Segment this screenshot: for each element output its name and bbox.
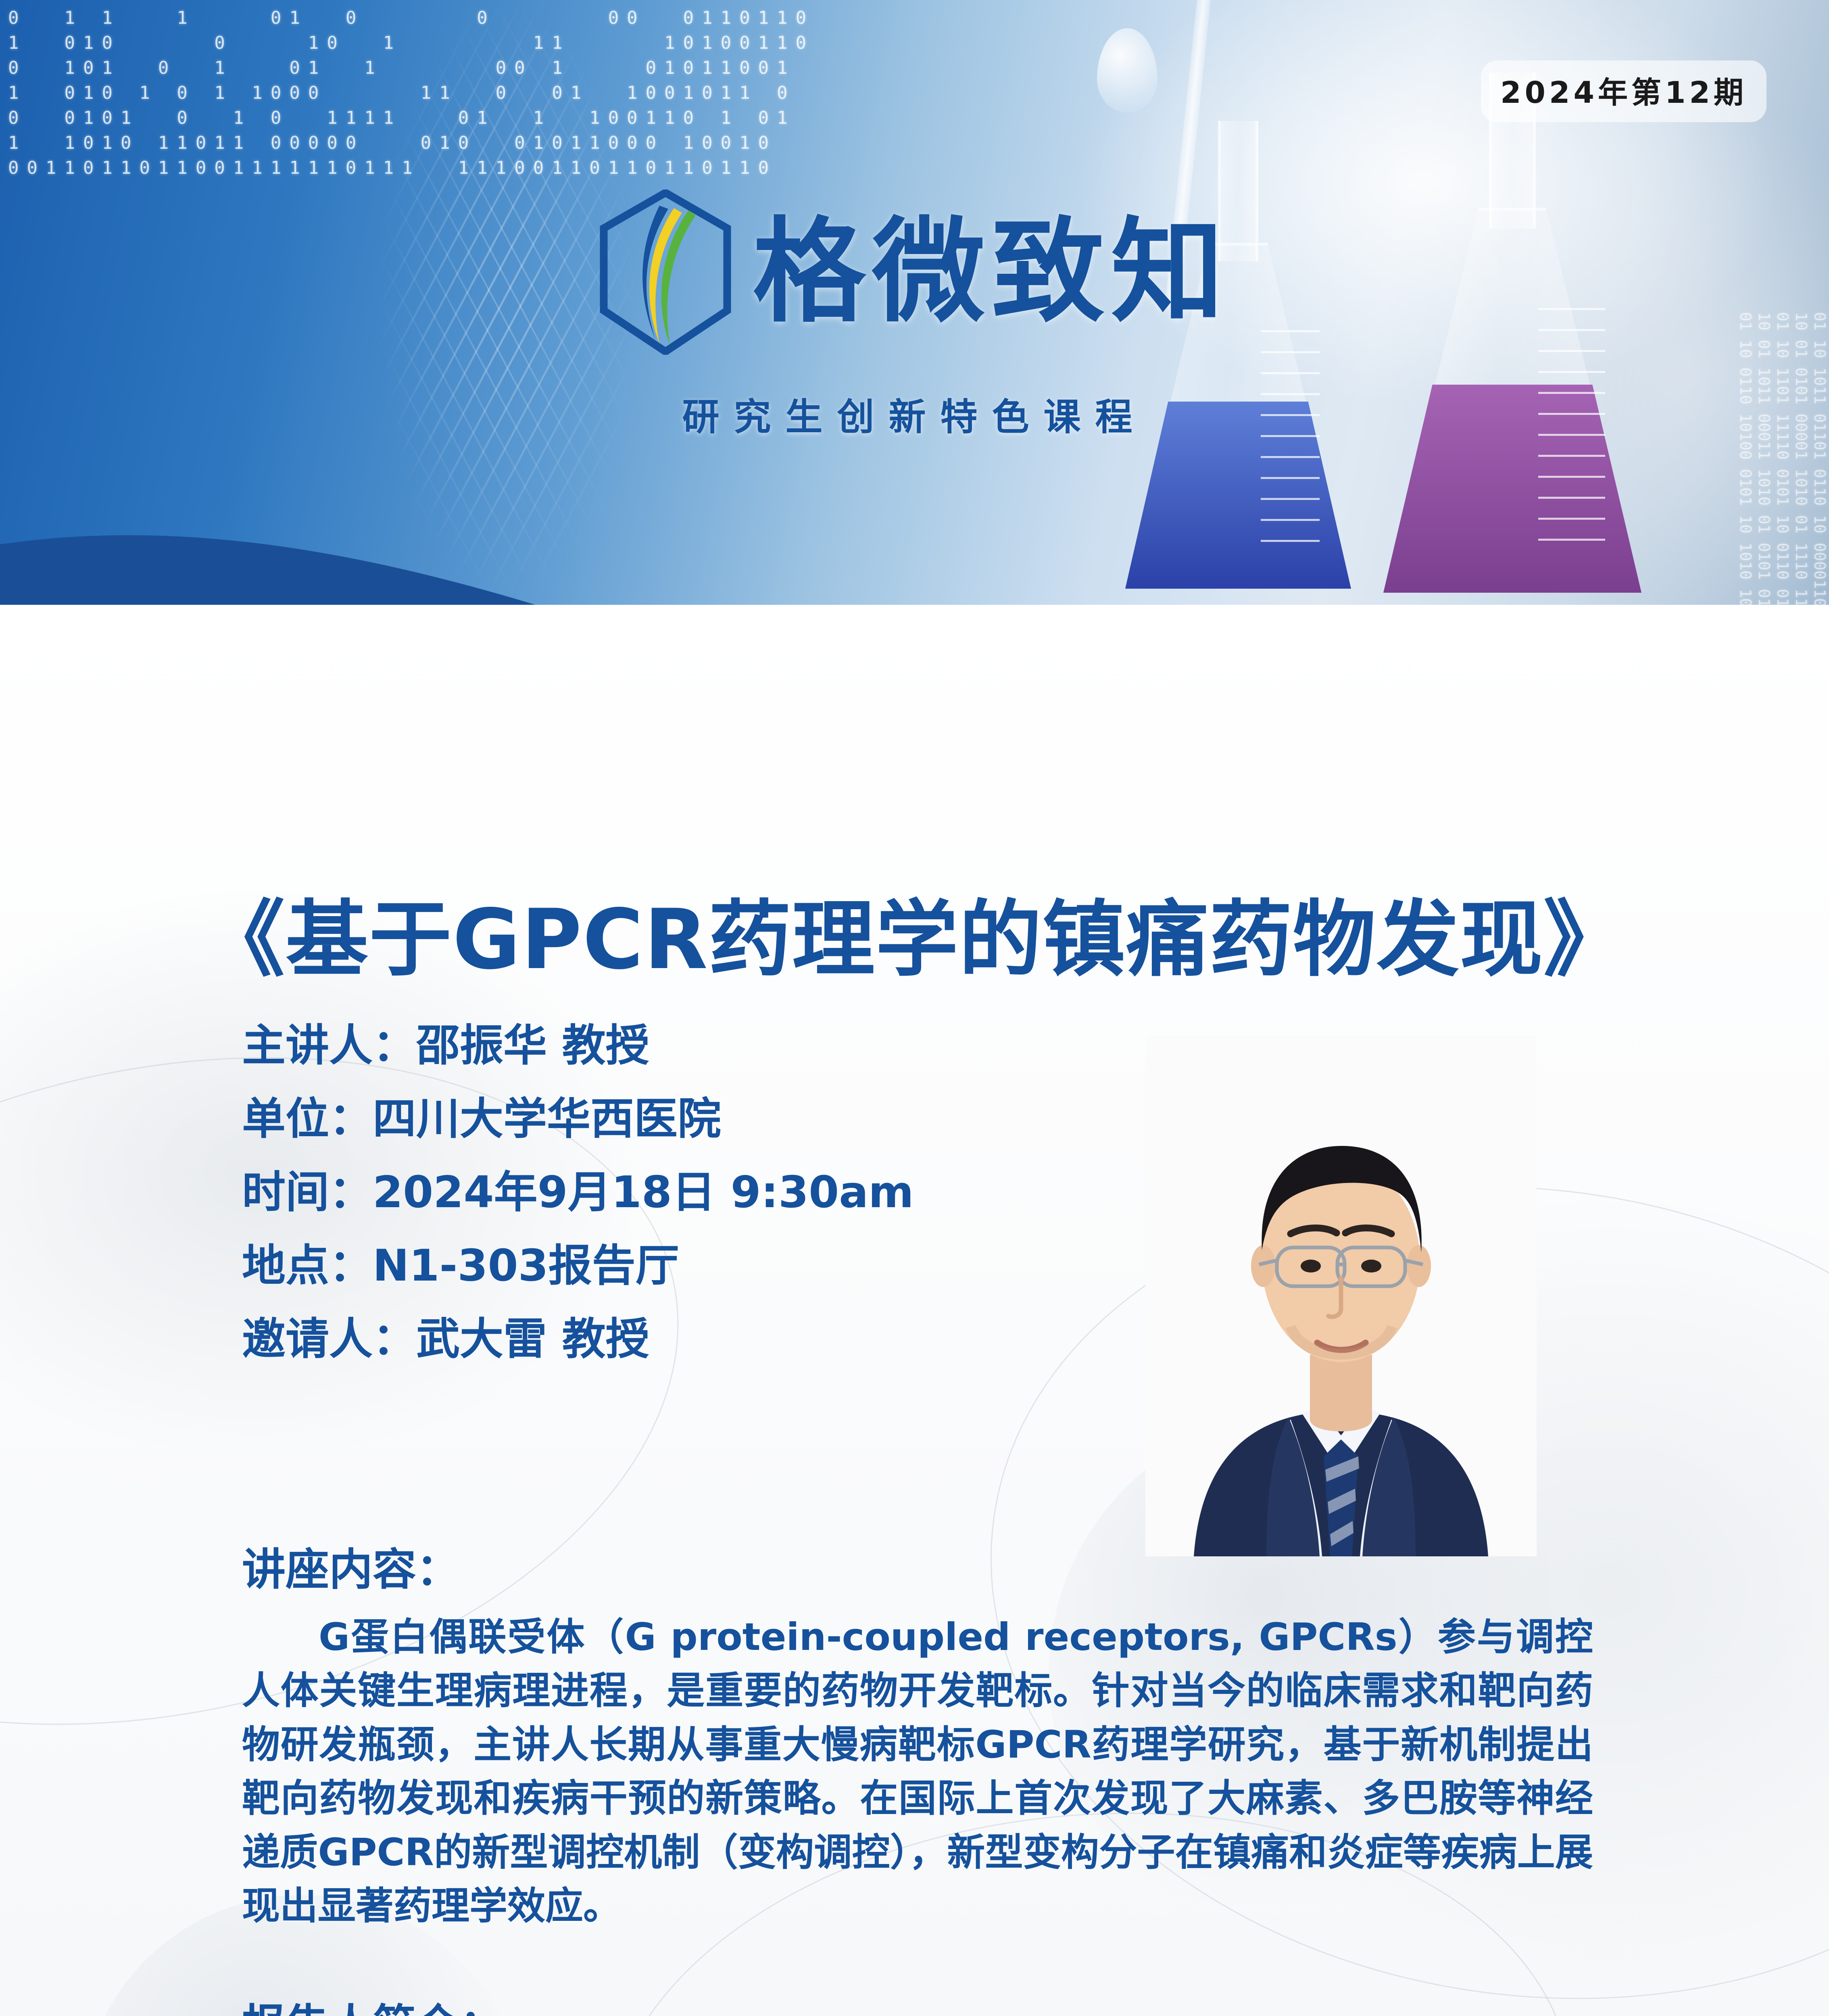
info-time: 时间：2024年9月18日 9:30am [242, 1171, 1149, 1214]
info-host: 邀请人：武大雷 教授 [242, 1318, 1149, 1361]
issue-badge: 2024年第12期 [1481, 60, 1766, 122]
event-info-block: 主讲人：邵振华 教授 单位：四川大学华西医院 时间：2024年9月18日 9:3… [242, 1024, 1149, 1361]
lecture-content-heading: 讲座内容： [242, 1548, 1593, 1592]
brand-name: 格微致知 [753, 216, 1230, 329]
info-affiliation: 单位：四川大学华西医院 [242, 1098, 1149, 1141]
portrait-illustration [1145, 1036, 1537, 1556]
speaker-portrait [1145, 1036, 1537, 1556]
lecture-content-section: 讲座内容： G蛋白偶联受体（G protein-coupled receptor… [242, 1548, 1593, 1933]
header-hero-banner: 0 1 1 1 01 0 0 00 0110110 1 010 0 10 1 1… [0, 0, 1829, 605]
water-droplet-graphic [1097, 28, 1157, 113]
brand-subtitle: 研究生创新特色课程 [0, 387, 1829, 441]
brand-lockup: 格微致知 [0, 190, 1829, 355]
info-venue: 地点：N1-303报告厅 [242, 1244, 1149, 1288]
speaker-bio-heading: 报告人简介： [242, 2004, 1593, 2016]
page-title: 《基于GPCR药理学的镇痛药物发现》 [0, 894, 1829, 987]
gewei-zhizhi-logo-icon [599, 190, 732, 355]
poster-root: 0 1 1 1 01 0 0 00 0110110 1 010 0 10 1 1… [0, 0, 1829, 2016]
lecture-content-body: G蛋白偶联受体（G protein-coupled receptors, GPC… [242, 1610, 1593, 1933]
speaker-bio-section: 报告人简介： 邵振华，四川大学华西医院生物治疗全国重点实验室研究员，博士生导师，… [242, 2004, 1593, 2016]
info-speaker: 主讲人：邵振华 教授 [242, 1024, 1149, 1068]
